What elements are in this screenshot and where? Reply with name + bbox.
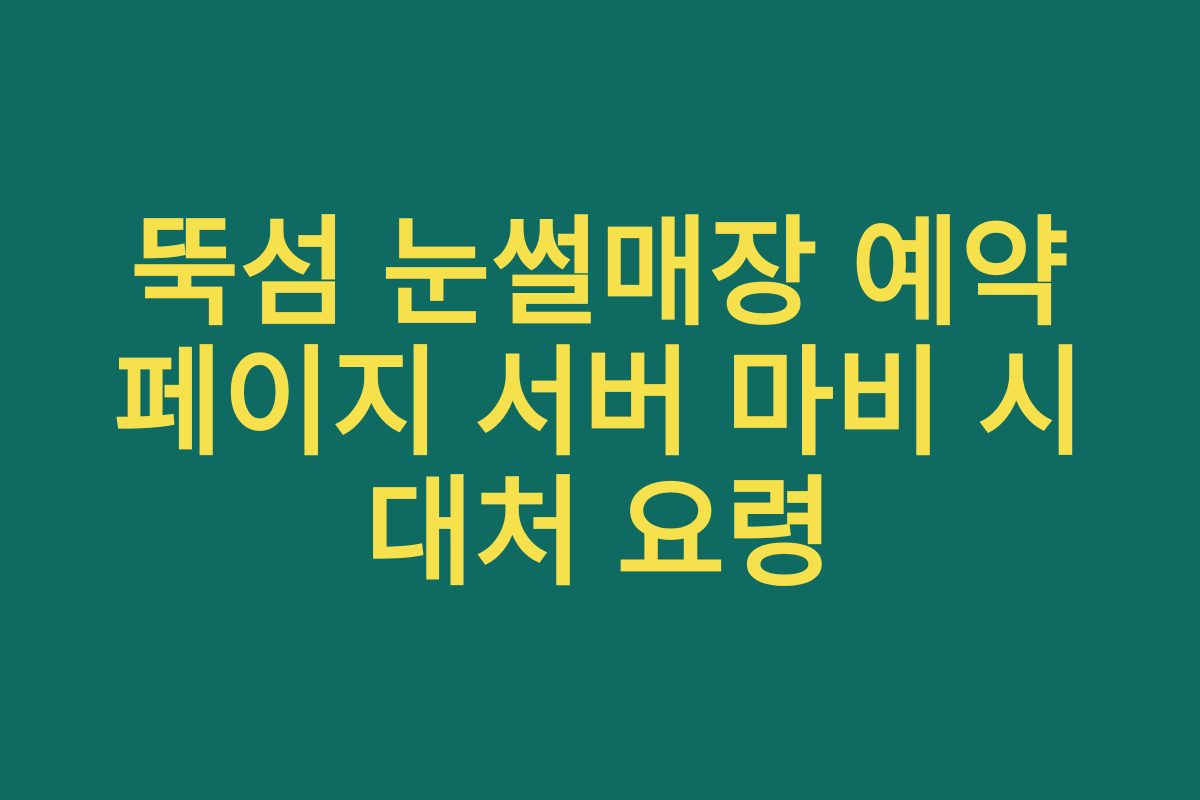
thumbnail-card: 뚝섬 눈썰매장 예약 페이지 서버 마비 시 대처 요령 (0, 0, 1200, 800)
page-title: 뚝섬 눈썰매장 예약 페이지 서버 마비 시 대처 요령 (78, 209, 1123, 599)
headline-block: 뚝섬 눈썰매장 예약 페이지 서버 마비 시 대처 요령 (78, 209, 1123, 599)
